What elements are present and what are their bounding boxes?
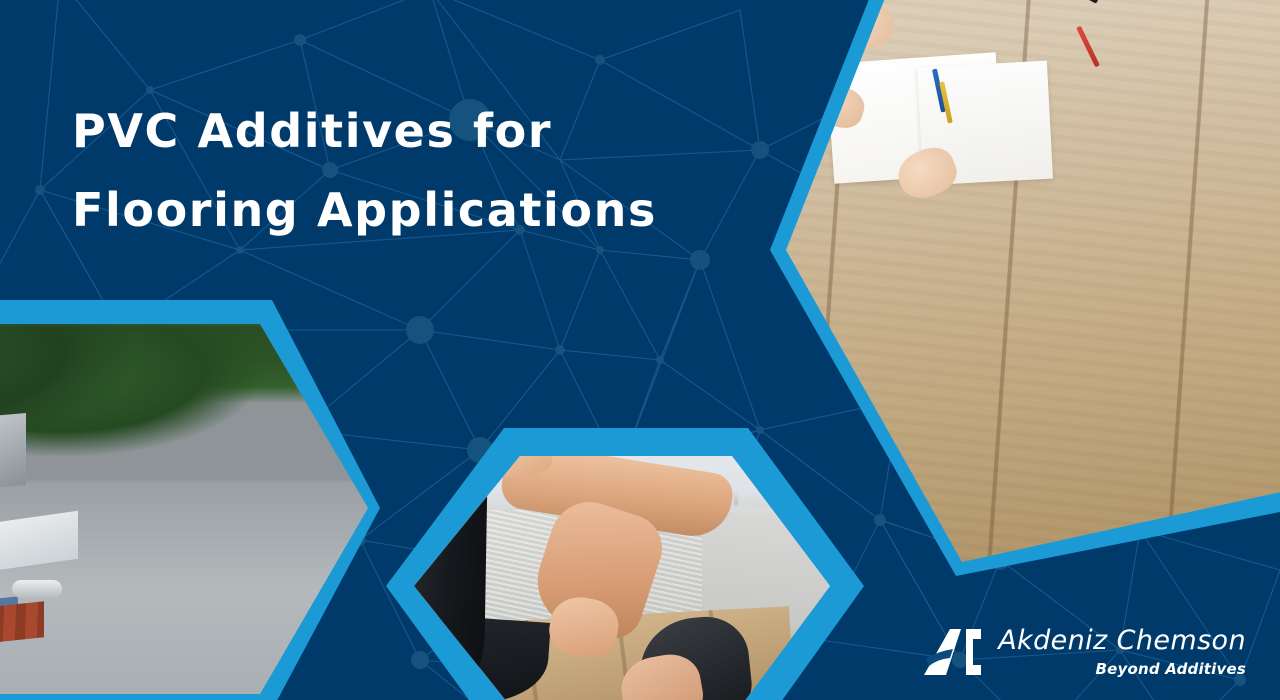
hex-tile-installer (372, 418, 872, 700)
plant-grey-building (0, 413, 26, 491)
brand-logo-text: Akdeniz Chemson Beyond Additives (998, 626, 1246, 678)
brand-name: Akdeniz Chemson (998, 626, 1246, 657)
graphite-pencil (1040, 0, 1099, 4)
storage-tank-upper (12, 580, 62, 598)
chemical-plant-photo (0, 290, 380, 700)
hex-tile-factory (0, 290, 380, 700)
green-pencil (800, 77, 826, 102)
vinyl-plank-edge (401, 440, 483, 470)
red-shed-roof (0, 601, 44, 650)
red-pencil (1076, 26, 1100, 68)
banner: PVC Additives for Flooring Applications … (0, 0, 1280, 700)
brand-tagline: Beyond Additives (1096, 660, 1246, 678)
plant-warehouse-roof (0, 511, 78, 581)
ac-monogram-icon (920, 628, 982, 676)
headline-line-1: PVC Additives for (72, 92, 772, 171)
headline-line-2: Flooring Applications (72, 171, 772, 250)
brand-logo[interactable]: Akdeniz Chemson Beyond Additives (920, 626, 1246, 678)
page-title: PVC Additives for Flooring Applications (72, 92, 772, 250)
